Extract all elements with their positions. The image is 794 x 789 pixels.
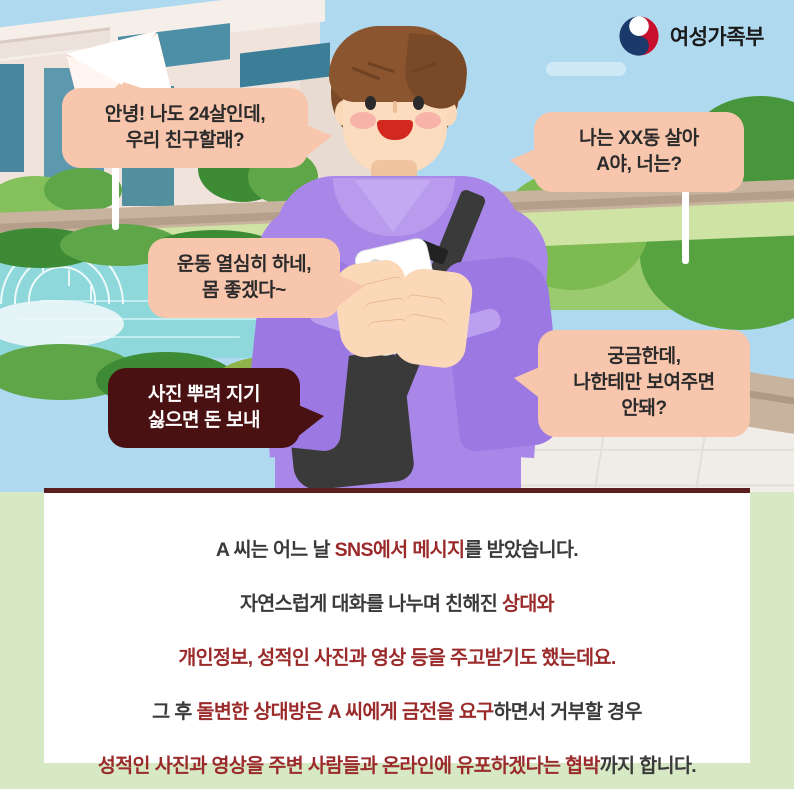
panel-text-highlight: SNS에서 메시지 [335, 539, 465, 561]
bubble-line: A야, 너는? [552, 152, 726, 178]
water-drop [68, 270, 70, 286]
panel-line-5: 성적인 사진과 영상을 주변 사람들과 온라인에 유포하겠다는 협박까지 합니다… [54, 749, 740, 778]
speech-bubble-threat[interactable]: 사진 뿌려 지기 싫으면 돈 보내 [108, 368, 300, 448]
speech-bubble-greeting[interactable]: 안녕! 나도 24살인데, 우리 친구할래? [62, 88, 308, 168]
panel-line-2: 자연스럽게 대화를 나누며 친해진 상대와 [54, 587, 740, 616]
bubble-tail [514, 366, 542, 400]
panel-text-highlight: 상대와 [502, 593, 554, 615]
panel-text-normal: 를 받았습니다. [464, 539, 578, 561]
speech-bubble-location[interactable]: 나는 XX동 살아 A야, 너는? [534, 112, 744, 192]
nose [393, 101, 397, 113]
taegeuk-icon [619, 16, 659, 56]
bubble-line: 몸 좋겠다~ [166, 278, 322, 304]
bubble-line: 사진 뿌려 지기 [126, 382, 282, 408]
panel-text-highlight: 개인정보, 성적인 사진과 영상 등을 주고받기도 했는데요. [178, 647, 615, 669]
panel-text-highlight: 성적인 사진과 영상을 주변 사람들과 온라인에 유포하겠다는 협박 [98, 755, 600, 777]
bubble-tail [510, 148, 538, 182]
bubble-line: 나한테만 보여주면 [556, 370, 732, 396]
panel-text-normal: A 씨는 어느 날 [216, 539, 335, 561]
illustration-scene: 안녕! 나도 24살인데, 우리 친구할래? 나는 XX동 살아 A야, 너는?… [0, 0, 794, 492]
bubble-line: 싫으면 돈 보내 [126, 408, 282, 434]
bubble-tail [296, 404, 324, 438]
panel-line-1: A 씨는 어느 날 SNS에서 메시지를 받았습니다. [54, 533, 740, 562]
panel-line-3: 개인정보, 성적인 사진과 영상 등을 주고받기도 했는데요. [54, 641, 740, 670]
bubble-line: 궁금한데, [556, 344, 732, 370]
eye-left [365, 96, 376, 110]
panel-line-4: 그 후 돌변한 상대방은 A 씨에게 금전을 요구하면서 거부할 경우 [54, 695, 740, 724]
bubble-tail [336, 274, 364, 308]
panel-text-highlight: 돌변한 상대방은 A 씨에게 금전을 요구 [197, 701, 494, 723]
panel-text-normal: 그 후 [152, 701, 196, 723]
panel-text-normal: 까지 합니다. [600, 755, 696, 777]
bubble-line: 운동 열심히 하네, [166, 252, 322, 278]
fountain-base [0, 300, 124, 348]
panel-text-normal: 하면서 거부할 경우 [493, 701, 641, 723]
description-panel: A 씨는 어느 날 SNS에서 메시지를 받았습니다. 자연스럽게 대화를 나누… [44, 488, 750, 763]
bubble-line: 안돼? [556, 396, 732, 422]
poster-root: 안녕! 나도 24살인데, 우리 친구할래? 나는 XX동 살아 A야, 너는?… [0, 0, 794, 789]
speech-bubble-request[interactable]: 궁금한데, 나한테만 보여주면 안돼? [538, 330, 750, 437]
panel-text-normal: 자연스럽게 대화를 나누며 친해진 [240, 593, 502, 615]
bubble-line: 우리 친구할래? [80, 128, 290, 154]
bubble-tail [304, 124, 332, 158]
hedge-shape [44, 168, 122, 212]
ministry-name-label: 여성가족부 [670, 21, 764, 51]
speech-bubble-compliment[interactable]: 운동 열심히 하네, 몸 좋겠다~ [148, 238, 340, 318]
blush-right [415, 112, 441, 129]
blush-left [350, 112, 376, 129]
cloud-shape [546, 62, 626, 76]
eye-right [413, 96, 424, 110]
building-window [0, 64, 24, 172]
bubble-line: 안녕! 나도 24살인데, [80, 102, 290, 128]
bubble-line: 나는 XX동 살아 [552, 126, 726, 152]
ministry-logo: 여성가족부 [619, 16, 764, 56]
water-drop [90, 286, 92, 300]
